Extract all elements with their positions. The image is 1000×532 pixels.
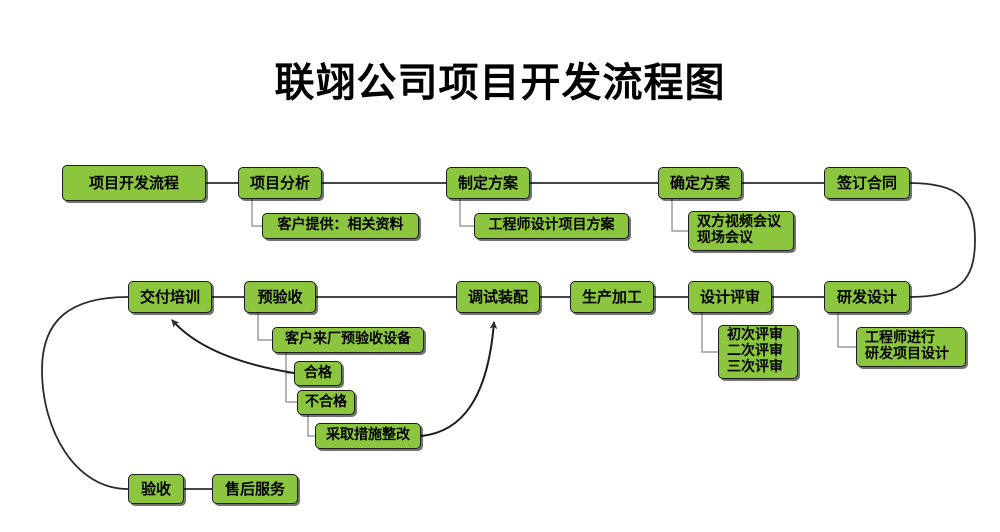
node-sign-contract[interactable]: 签订合同	[824, 167, 910, 199]
node-acceptance[interactable]: 验收	[128, 474, 184, 504]
connector-m1-m1s	[838, 313, 856, 347]
node-debug-assembly[interactable]: 调试装配	[456, 281, 540, 313]
node-pre-acceptance[interactable]: 预验收	[244, 281, 316, 313]
node-engineer-rnd-project-design[interactable]: 工程师进行 研发项目设计	[856, 327, 966, 367]
node-take-corrective-measures[interactable]: 采取措施整改	[315, 423, 421, 449]
connector-m5s-m6	[286, 353, 294, 373]
connector-n3-n3s	[460, 199, 474, 226]
connector-m2-m2s	[702, 313, 718, 352]
flowchart-canvas: 联翊公司项目开发流程图 项目开发流程 项目分析 客户提供：相关资料 制定方案 工…	[0, 0, 1000, 532]
node-rnd-design[interactable]: 研发设计	[824, 281, 910, 313]
node-formulate-plan[interactable]: 制定方案	[446, 167, 530, 199]
node-production-processing[interactable]: 生产加工	[570, 281, 654, 313]
node-qualified[interactable]: 合格	[294, 361, 342, 386]
node-after-sales-service[interactable]: 售后服务	[212, 474, 298, 504]
edge-n5-m1-loop	[910, 183, 975, 297]
node-design-review[interactable]: 设计评审	[688, 281, 772, 313]
node-delivery-training[interactable]: 交付培训	[128, 281, 212, 313]
edge-m9-b1-loop	[42, 297, 128, 489]
node-review-rounds[interactable]: 初次评审 二次评审 三次评审	[718, 325, 798, 379]
node-not-qualified[interactable]: 不合格	[297, 390, 355, 415]
node-project-analysis[interactable]: 项目分析	[238, 167, 322, 199]
connector-n4-n4s	[672, 199, 688, 231]
node-project-development-process[interactable]: 项目开发流程	[62, 165, 206, 201]
connector-n2-n2s	[252, 199, 262, 226]
page-title: 联翊公司项目开发流程图	[0, 50, 1000, 108]
node-confirm-plan[interactable]: 确定方案	[658, 167, 742, 199]
connector-m7-m8	[308, 415, 315, 436]
connector-m5-m5s	[258, 313, 272, 340]
edge-m8-m4-arrow	[421, 322, 494, 436]
node-video-and-onsite-meeting[interactable]: 双方视频会议 现场会议	[688, 211, 794, 251]
node-customer-onsite-pre-acceptance[interactable]: 客户来厂预验收设备	[272, 327, 424, 353]
node-engineer-designs-plan[interactable]: 工程师设计项目方案	[474, 213, 629, 239]
node-customer-provides-materials[interactable]: 客户提供：相关资料	[262, 213, 419, 239]
